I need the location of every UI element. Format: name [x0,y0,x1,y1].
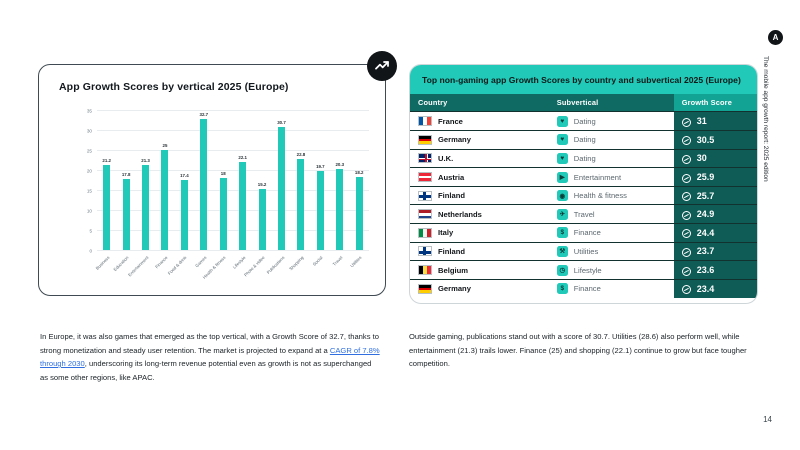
cell-subvertical: ♥Dating [549,149,674,168]
bar [123,179,130,250]
x-label-cell: Social [311,253,330,293]
country-name: Austria [438,173,464,182]
bar [142,165,149,250]
y-axis-tick-label: 0 [89,249,92,254]
right-body-copy: Outside gaming, publications stand out w… [409,330,754,371]
dollar-icon: $ [557,283,568,294]
cell-subvertical: $Finance [549,279,674,298]
cell-growth-score: 25.7 [674,186,757,205]
slide-page: App Growth Scores by vertical 2025 (Euro… [0,0,800,450]
x-axis-tick-label: Travel [331,255,343,267]
cell-country: France [410,112,549,131]
bar-column: 20.3 [330,110,349,250]
bar-column: 18.2 [349,110,368,250]
cell-country: Austria [410,168,549,187]
growth-arrow-icon [682,267,691,276]
y-axis-tick-label: 35 [87,109,92,114]
column-header-growth-score: Growth Score [674,94,757,112]
table-row[interactable]: Austria▶Entertainment25.9 [410,168,757,187]
y-axis-tick-label: 5 [89,229,92,234]
bar-value-label: 30.7 [277,120,286,125]
table-title: Top non-gaming app Growth Scores by coun… [422,74,745,86]
country-name: Italy [438,228,453,237]
bar-value-label: 17.4 [180,173,189,178]
bar-column: 22.8 [291,110,310,250]
bar [317,171,324,250]
bar-value-label: 32.7 [200,112,209,117]
cell-subvertical: ✈Travel [549,205,674,224]
bar-value-label: 18 [221,171,226,176]
country-name: Netherlands [438,210,482,219]
brand-logo-icon: A [768,30,783,45]
column-header-country: Country [410,94,549,112]
growth-score-value: 25.7 [697,191,715,201]
bar [278,127,285,250]
chart-title: App Growth Scores by vertical 2025 (Euro… [59,81,289,93]
fitness-icon: ◉ [557,190,568,201]
y-axis-tick-label: 25 [87,149,92,154]
bar-column: 30.7 [272,110,291,250]
cell-country: U.K. [410,149,549,168]
x-label-cell: Health & fitness [214,253,233,293]
growth-arrow-icon [682,211,691,220]
column-header-subvertical: Subvertical [549,94,674,112]
x-axis-tick-label: Lifestyle [232,255,247,270]
subvertical-name: Dating [574,154,596,163]
cell-growth-score: 23.7 [674,242,757,261]
x-label-cell: Travel [330,253,349,293]
growth-arrow-icon [682,174,691,183]
bar-column: 19.7 [311,110,330,250]
left-copy-part2: , underscoring its long-term revenue pot… [40,359,371,382]
cell-growth-score: 24.9 [674,205,757,224]
chart-x-axis-labels: BusinessEducationEntertainmentFinanceFoo… [97,253,369,293]
clock-icon: ◷ [557,265,568,276]
subvertical-name: Lifestyle [574,266,602,275]
table-row[interactable]: Germany♥Dating30.5 [410,131,757,150]
x-axis-tick-label: Business [94,255,110,271]
bar-column: 25 [155,110,174,250]
x-label-cell: Publications [272,253,291,293]
cell-country: Finland [410,242,549,261]
cell-country: Belgium [410,261,549,280]
bar [356,177,363,250]
bar-value-label: 21.3 [141,158,150,163]
cell-country: Italy [410,224,549,243]
growth-arrow-icon [682,136,691,145]
table-title-band: Top non-gaming app Growth Scores by coun… [410,65,757,94]
y-axis-tick-label: 30 [87,129,92,134]
subvertical-name: Dating [574,135,596,144]
bar-column: 21.3 [136,110,155,250]
bar-value-label: 22.8 [297,152,306,157]
left-body-copy: In Europe, it was also games that emerge… [40,330,380,384]
chart-plot-area: 05101520253035 21.217.821.32517.432.7182… [97,110,369,250]
growth-score-value: 24.9 [697,209,715,219]
growth-arrow-icon [682,155,691,164]
table-row[interactable]: Belgium◷Lifestyle23.6 [410,261,757,280]
bar-column: 18 [214,110,233,250]
bar [259,189,266,250]
bar-value-label: 20.3 [335,162,344,167]
x-label-cell: Business [97,253,116,293]
flag-belgium [418,265,432,275]
bar-value-label: 17.8 [122,172,131,177]
report-title-vertical: The mobile app growth report: 2025 editi… [762,56,769,182]
bar-column: 17.8 [116,110,135,250]
table-card: Top non-gaming app Growth Scores by coun… [409,64,758,304]
bar [336,169,343,250]
bar [103,165,110,250]
plane-icon: ✈ [557,209,568,220]
x-axis-tick-label: Shopping [288,255,304,271]
trending-up-icon [367,51,397,81]
flag-austria [418,172,432,182]
subvertical-name: Entertainment [574,173,621,182]
cell-country: Germany [410,131,549,150]
growth-arrow-icon [682,285,691,294]
table-row[interactable]: France♥Dating31 [410,112,757,131]
table-row[interactable]: Finland⚒Utilities23.7 [410,242,757,261]
chart-card: App Growth Scores by vertical 2025 (Euro… [38,64,386,296]
subvertical-name: Finance [574,284,601,293]
x-label-cell: Shopping [291,253,310,293]
growth-score-value: 30 [697,153,707,163]
growth-arrow-icon [682,229,691,238]
cell-country: Germany [410,279,549,298]
bar-column: 21.2 [97,110,116,250]
country-name: France [438,117,463,126]
flag-uk [418,153,432,163]
bar [239,162,246,250]
gridline: 0 [97,250,369,251]
table-row[interactable]: Finland◉Health & fitness25.7 [410,186,757,205]
growth-arrow-icon [682,248,691,257]
growth-score-value: 23.4 [697,284,715,294]
heart-icon: ♥ [557,153,568,164]
bar-value-label: 19.7 [316,164,325,169]
dollar-icon: $ [557,227,568,238]
heart-icon: ♥ [557,134,568,145]
growth-score-value: 24.4 [697,228,715,238]
x-axis-tick-label: Utilities [349,255,362,268]
growth-score-value: 25.9 [697,172,715,182]
cell-subvertical: ⚒Utilities [549,242,674,261]
bar-column: 32.7 [194,110,213,250]
country-name: Belgium [438,266,468,275]
subvertical-name: Health & fitness [574,191,627,200]
subvertical-name: Utilities [574,247,598,256]
x-axis-tick-label: Games [194,255,207,268]
cell-growth-score: 24.4 [674,224,757,243]
bar-value-label: 18.2 [355,170,364,175]
country-name: U.K. [438,154,453,163]
cell-subvertical: ▶Entertainment [549,168,674,187]
chart-bars: 21.217.821.32517.432.71822.115.230.722.8… [97,110,369,250]
growth-arrow-icon [682,192,691,201]
cell-subvertical: ◷Lifestyle [549,261,674,280]
wrench-icon: ⚒ [557,246,568,257]
x-label-cell: Food & drink [175,253,194,293]
x-label-cell: Entertainment [136,253,155,293]
cell-growth-score: 23.4 [674,279,757,298]
cell-growth-score: 30.5 [674,131,757,150]
table-row[interactable]: Netherlands✈Travel24.9 [410,205,757,224]
cell-growth-score: 30 [674,149,757,168]
bar [220,178,227,250]
flag-italy [418,228,432,238]
y-axis-tick-label: 15 [87,189,92,194]
subvertical-name: Travel [574,210,595,219]
flag-netherlands [418,209,432,219]
bar-value-label: 22.1 [238,155,247,160]
table-header-row: Country Subvertical Growth Score [410,94,757,112]
table-row[interactable]: Italy$Finance24.4 [410,224,757,243]
bar-value-label: 21.2 [102,158,111,163]
flag-germany [418,135,432,145]
flag-germany [418,284,432,294]
flag-finland [418,191,432,201]
bar-value-label: 15.2 [258,182,267,187]
play-icon: ▶ [557,172,568,183]
growth-arrow-icon [682,118,691,127]
flag-finland [418,246,432,256]
cell-growth-score: 25.9 [674,168,757,187]
cell-country: Netherlands [410,205,549,224]
bar [161,150,168,250]
x-axis-tick-label: Finance [154,255,168,269]
heart-icon: ♥ [557,116,568,127]
table-row[interactable]: Germany$Finance23.4 [410,279,757,298]
page-number: 14 [763,415,772,424]
y-axis-tick-label: 20 [87,169,92,174]
growth-score-value: 23.7 [697,246,715,256]
bar-column: 17.4 [175,110,194,250]
bar [200,119,207,250]
bar-column: 22.1 [233,110,252,250]
table-body: France♥Dating31Germany♥Dating30.5U.K.♥Da… [410,112,757,298]
cell-subvertical: ◉Health & fitness [549,186,674,205]
y-axis-tick-label: 10 [87,209,92,214]
bar-value-label: 25 [163,143,168,148]
country-name: Germany [438,135,471,144]
growth-scores-table: Country Subvertical Growth Score France♥… [410,94,757,297]
flag-france [418,116,432,126]
country-name: Finland [438,247,465,256]
growth-score-value: 30.5 [697,135,715,145]
left-copy-part1: In Europe, it was also games that emerge… [40,332,379,355]
cell-growth-score: 31 [674,112,757,131]
x-axis-tick-label: Social [312,255,324,267]
growth-score-value: 31 [697,116,707,126]
bar-column: 15.2 [252,110,271,250]
country-name: Germany [438,284,471,293]
cell-country: Finland [410,186,549,205]
cell-growth-score: 23.6 [674,261,757,280]
cell-subvertical: ♥Dating [549,131,674,150]
cell-subvertical: $Finance [549,224,674,243]
bar [297,159,304,250]
table-row[interactable]: U.K.♥Dating30 [410,149,757,168]
subvertical-name: Finance [574,228,601,237]
growth-score-value: 23.6 [697,265,715,275]
x-label-cell: Utilities [349,253,368,293]
country-name: Finland [438,191,465,200]
cell-subvertical: ♥Dating [549,112,674,131]
bar [181,180,188,250]
subvertical-name: Dating [574,117,596,126]
